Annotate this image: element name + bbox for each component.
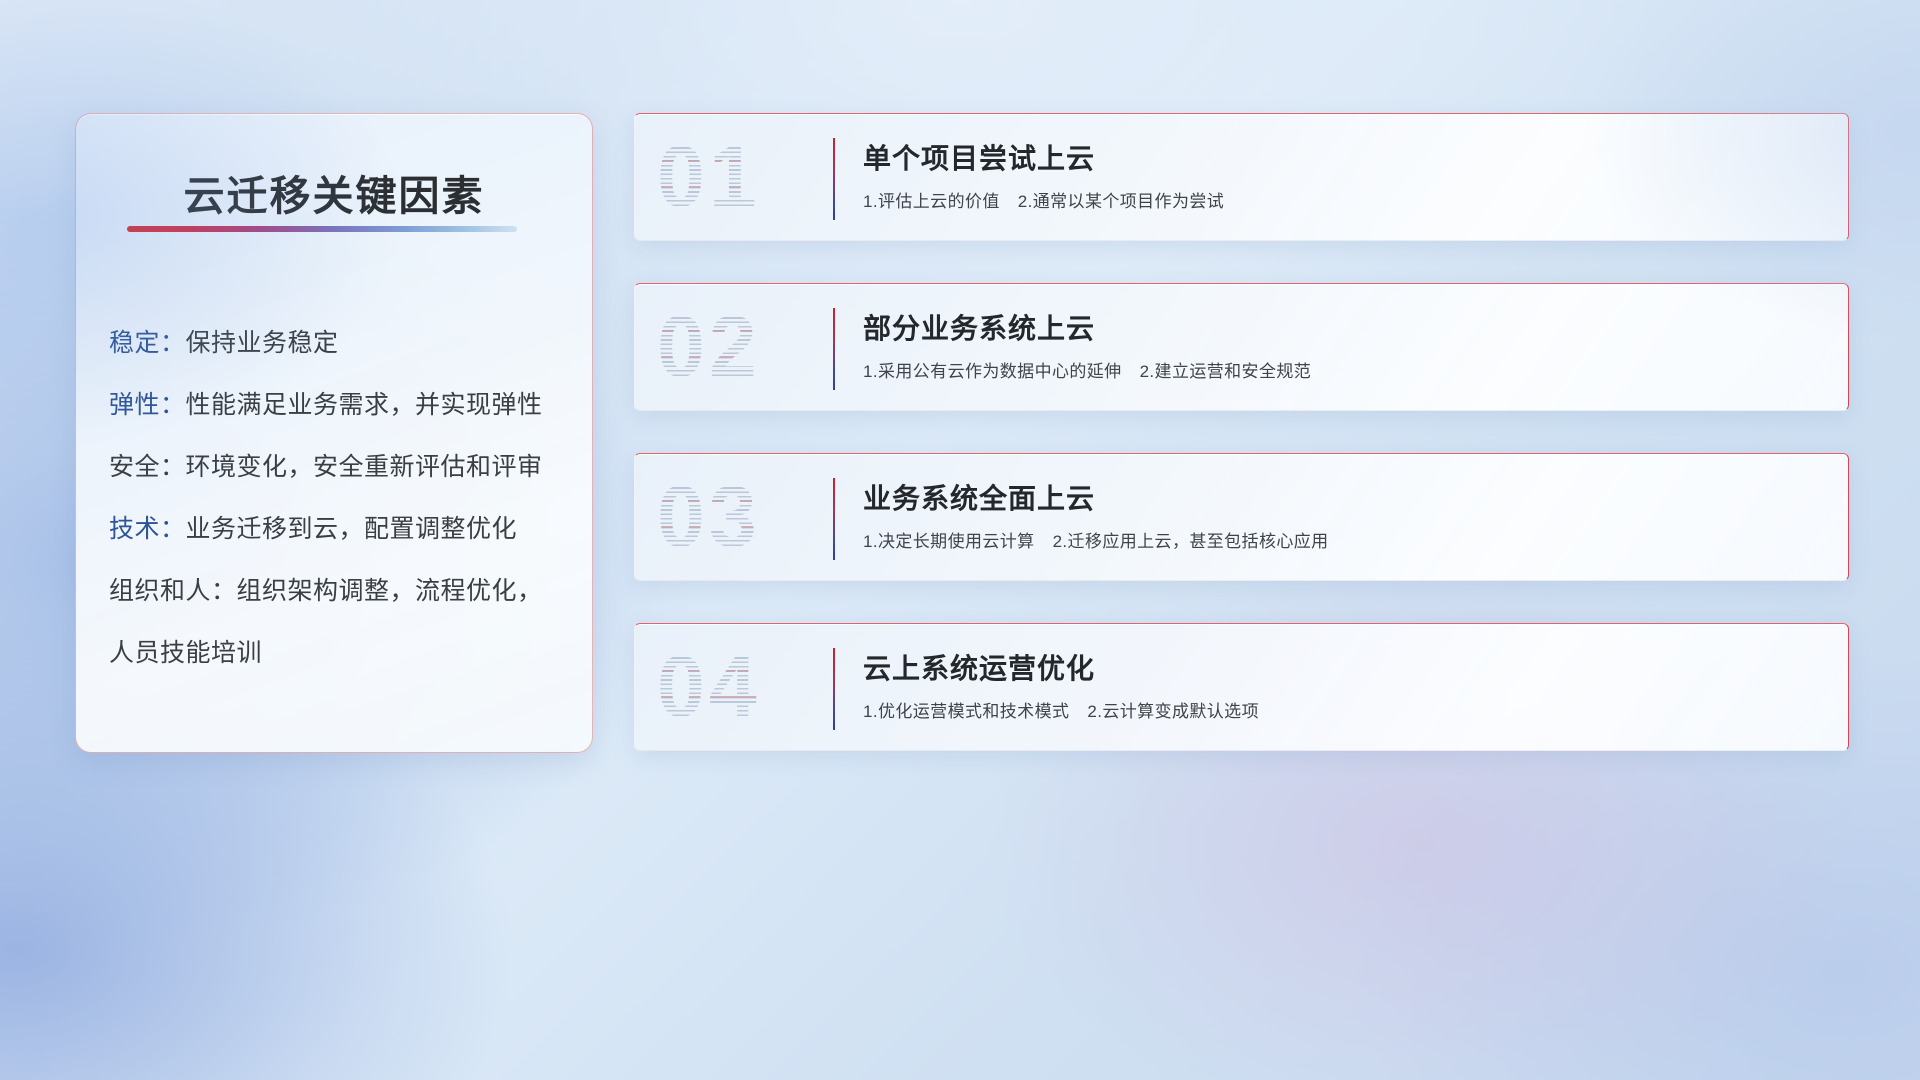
- stage-card-points: 1.采用公有云作为数据中心的延伸2.建立运营和安全规范: [863, 360, 1828, 384]
- factor-text: 环境变化，安全重新评估和评审: [186, 453, 543, 481]
- stage-card-title: 云上系统运营优化: [863, 650, 1828, 688]
- slide-canvas: 云迁移关键因素 稳定：保持业务稳定弹性：性能满足业务需求，并实现弹性安全：环境变…: [0, 0, 1920, 1080]
- stage-card-point: 1.决定长期使用云计算: [863, 532, 1035, 551]
- factor-label: 弹性：: [109, 391, 186, 419]
- factor-list: 稳定：保持业务稳定弹性：性能满足业务需求，并实现弹性安全：环境变化，安全重新评估…: [109, 312, 574, 684]
- stage-card-point: 1.评估上云的价值: [863, 192, 1000, 211]
- stage-number-watermark: 03: [657, 474, 761, 560]
- stage-card-point: 2.通常以某个项目作为尝试: [1018, 192, 1224, 211]
- factor-row: 人员技能培训: [109, 622, 574, 684]
- stage-card-body: 业务系统全面上云1.决定长期使用云计算2.迁移应用上云，甚至包括核心应用: [863, 480, 1828, 554]
- stage-number-watermark: 04: [657, 644, 761, 730]
- stage-card[interactable]: 0404云上系统运营优化1.优化运营模式和技术模式2.云计算变成默认选项: [634, 623, 1849, 751]
- factor-text: 组织架构调整，流程优化，: [237, 577, 543, 605]
- stage-card-body: 部分业务系统上云1.采用公有云作为数据中心的延伸2.建立运营和安全规范: [863, 310, 1828, 384]
- factor-text: 保持业务稳定: [186, 329, 339, 357]
- stage-card-point: 2.建立运营和安全规范: [1140, 362, 1312, 381]
- stage-card-title: 部分业务系统上云: [863, 310, 1828, 348]
- factor-row: 组织和人：组织架构调整，流程优化，: [109, 560, 574, 622]
- panel-title: 云迁移关键因素: [76, 162, 592, 222]
- stage-card-list: 0101单个项目尝试上云1.评估上云的价值2.通常以某个项目作为尝试0202部分…: [634, 113, 1849, 751]
- stage-card[interactable]: 0303业务系统全面上云1.决定长期使用云计算2.迁移应用上云，甚至包括核心应用: [634, 453, 1849, 581]
- vertical-divider-bar: [833, 138, 835, 220]
- vertical-divider-bar: [833, 308, 835, 390]
- stage-card[interactable]: 0202部分业务系统上云1.采用公有云作为数据中心的延伸2.建立运营和安全规范: [634, 283, 1849, 411]
- stage-card-point: 1.优化运营模式和技术模式: [863, 702, 1069, 721]
- stage-card-body: 单个项目尝试上云1.评估上云的价值2.通常以某个项目作为尝试: [863, 140, 1828, 214]
- vertical-divider-bar: [833, 478, 835, 560]
- factor-label: 稳定：: [109, 329, 186, 357]
- factor-row: 稳定：保持业务稳定: [109, 312, 574, 374]
- factor-text: 人员技能培训: [109, 639, 262, 667]
- title-underline-rule: [127, 226, 517, 232]
- factor-row: 技术：业务迁移到云，配置调整优化: [109, 498, 574, 560]
- factor-text: 业务迁移到云，配置调整优化: [186, 515, 518, 543]
- stage-card-title: 单个项目尝试上云: [863, 140, 1828, 178]
- stage-card-points: 1.评估上云的价值2.通常以某个项目作为尝试: [863, 190, 1828, 214]
- factor-label: 组织和人：: [109, 577, 237, 605]
- factor-row: 弹性：性能满足业务需求，并实现弹性: [109, 374, 574, 436]
- stage-card-point: 1.采用公有云作为数据中心的延伸: [863, 362, 1122, 381]
- factor-text: 性能满足业务需求，并实现弹性: [186, 391, 543, 419]
- stage-card-body: 云上系统运营优化1.优化运营模式和技术模式2.云计算变成默认选项: [863, 650, 1828, 724]
- stage-card-points: 1.决定长期使用云计算2.迁移应用上云，甚至包括核心应用: [863, 530, 1828, 554]
- stage-card-point: 2.云计算变成默认选项: [1087, 702, 1259, 721]
- stage-card-points: 1.优化运营模式和技术模式2.云计算变成默认选项: [863, 700, 1828, 724]
- factor-label: 安全：: [109, 453, 186, 481]
- stage-card-point: 2.迁移应用上云，甚至包括核心应用: [1053, 532, 1329, 551]
- stage-card-title: 业务系统全面上云: [863, 480, 1828, 518]
- stage-card[interactable]: 0101单个项目尝试上云1.评估上云的价值2.通常以某个项目作为尝试: [634, 113, 1849, 241]
- stage-number-watermark: 02: [657, 304, 761, 390]
- factor-row: 安全：环境变化，安全重新评估和评审: [109, 436, 574, 498]
- key-factors-panel: 云迁移关键因素 稳定：保持业务稳定弹性：性能满足业务需求，并实现弹性安全：环境变…: [75, 113, 593, 753]
- factor-label: 技术：: [109, 515, 186, 543]
- stage-number-watermark: 01: [657, 134, 761, 220]
- vertical-divider-bar: [833, 648, 835, 730]
